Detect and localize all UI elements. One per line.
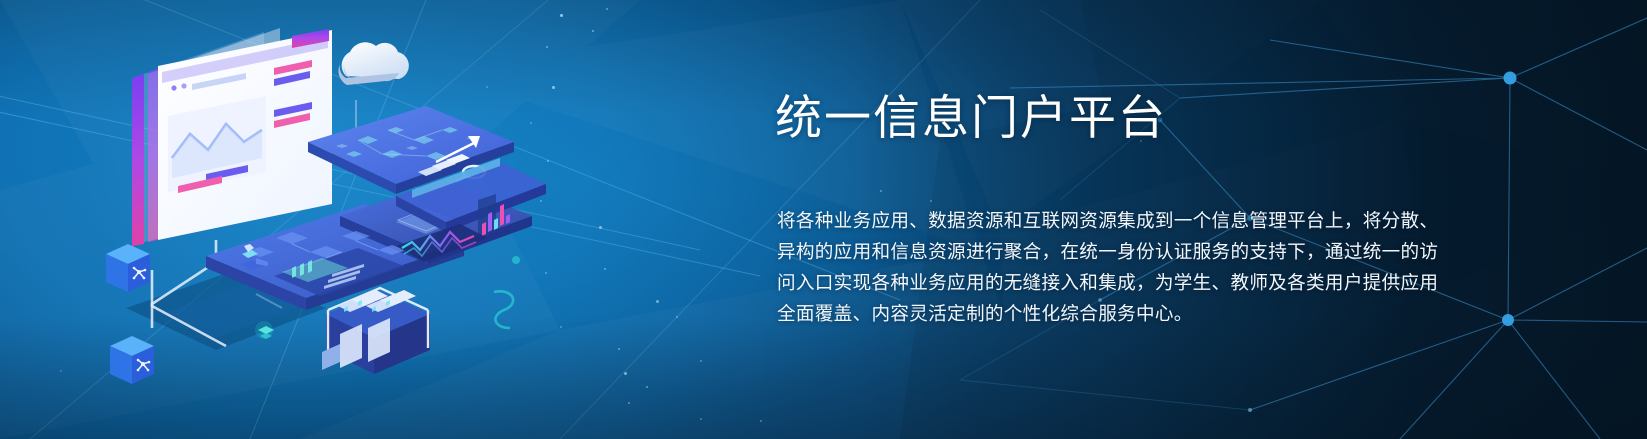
description-line-1: 将各种业务应用、数据资源和互联网资源集成到一个信息管理平台上，将分散、 [777,205,1467,236]
isometric-data-platform-illustration [96,8,556,428]
hero-banner: 统一信息门户平台 将各种业务应用、数据资源和互联网资源集成到一个信息管理平台上，… [0,0,1647,439]
description-line-3: 问入口实现各种业务应用的无缝接入和集成，为学生、教师及各类用户提供应用 [777,267,1467,298]
banner-description: 将各种业务应用、数据资源和互联网资源集成到一个信息管理平台上，将分散、 异构的应… [777,205,1467,329]
banner-copy: 统一信息门户平台 将各种业务应用、数据资源和互联网资源集成到一个信息管理平台上，… [775,0,1475,439]
description-line-4: 全面覆盖、内容灵活定制的个性化综合服务中心。 [777,298,1467,329]
description-line-2: 异构的应用和信息资源进行聚合，在统一身份认证服务的支持下，通过统一的访 [777,236,1467,267]
page-title: 统一信息门户平台 [775,92,1167,145]
